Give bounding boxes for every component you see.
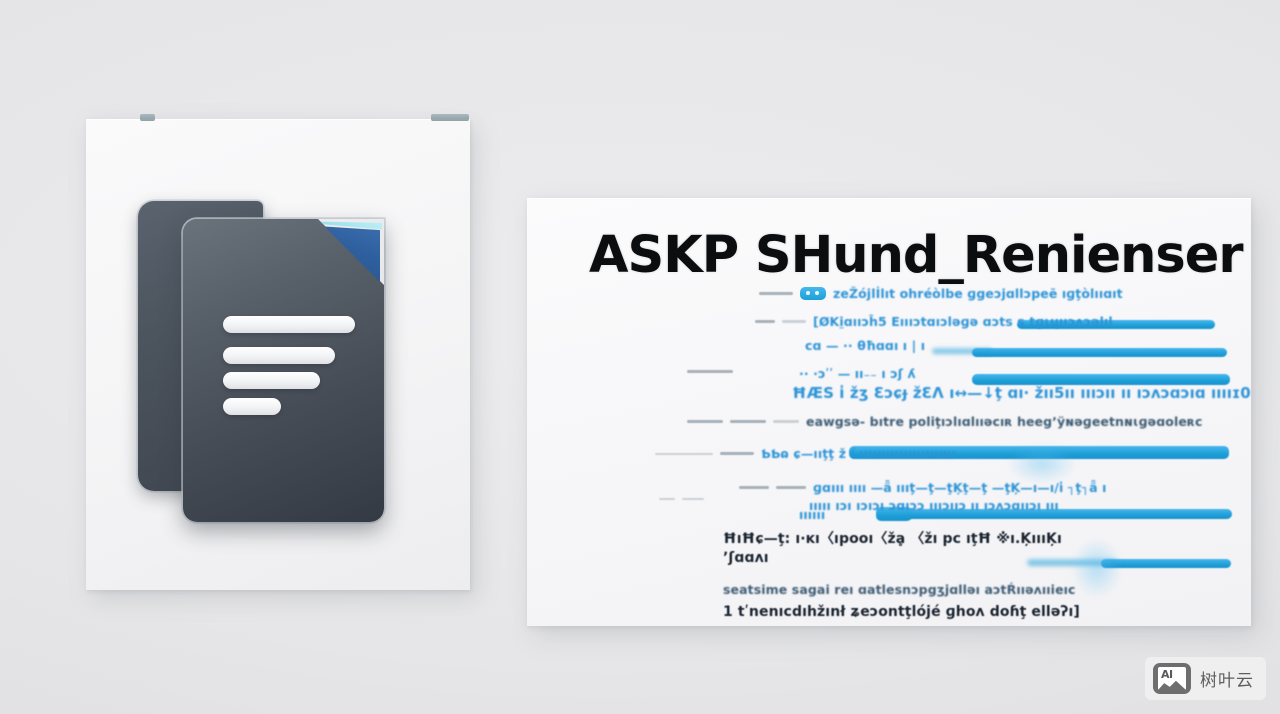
row-text: ĦıĦɕ—ţ: ı·ĸı〈ıpooı〈žḁ 〈žı pc ıţĦ ※ı.Ķııı… [723, 528, 1062, 548]
document-pages-icon[interactable] [138, 201, 408, 531]
preview-row: ııııı ıɔı ıɔıɔı ɔɑıɔɔ ıııɔııɔ ıı ıɔʌɔɑıı… [809, 498, 1059, 513]
highlight-glow [1072, 538, 1122, 598]
row-dash [659, 498, 675, 500]
row-text: ʼʃɑɑʌı [723, 550, 769, 566]
preview-row: seatsime sagai reı ɑatlesnɔpgʒjɑlləı aɔt… [723, 582, 1076, 597]
row-text: seatsime sagai reı ɑatlesnɔpgʒjɑlləı aɔt… [723, 582, 1076, 597]
row-dash [687, 420, 723, 423]
row-dash [739, 486, 769, 489]
document-front-page [183, 219, 384, 522]
row-dash [759, 292, 793, 295]
document-text-line [223, 372, 320, 389]
row-text: ƄƄɷ ɕ—ııţţ ž ı́ ıııııııııııııııııııııı [761, 446, 956, 461]
row-dash [755, 320, 775, 323]
preview-row: eawgsə- bıtre poliţıɔlıɑlııəcıʀ heegʼÿɴə… [687, 414, 1203, 429]
preview-row: cɑ — ·· θħɑɑı ı | ı [805, 338, 925, 353]
ai-image-icon: AI [1153, 663, 1191, 694]
row-text: cɑ — ·· θħɑɑı ı | ı [805, 338, 925, 353]
preview-row: [ØKḭɑııɔĥ5 Eıııɔtɑıɔləɡə ɑɔts s tɡɩɥııɔʌ… [755, 314, 1113, 329]
preview-row [659, 498, 704, 500]
document-text-line [223, 398, 281, 415]
row-dash [773, 420, 799, 423]
row-text: 1 tʹnenıcdıhžınł ʑeɔontţlójé ɡhoʌ doɦţ e… [723, 604, 1080, 620]
row-text: zeŽójlİlıt ohréòlbe ɡgeɔjɑllɔpeē ıɡţòlıı… [833, 286, 1123, 301]
row-dash [687, 370, 733, 373]
preview-row: ĦıĦɕ—ţ: ı·ĸı〈ıpooı〈žḁ 〈žı pc ıţĦ ※ı.Ķııı… [723, 528, 1062, 548]
toggle-badge-icon [800, 287, 826, 300]
document-text-line [223, 316, 355, 333]
highlight-bar [972, 348, 1227, 357]
preview-row: ĦÆS ı̓ žʒ Ɛɔɕɟ žƐɅ ı↔—↓ţ ɑı· žıı5ıı ıııɔ… [792, 384, 1251, 402]
panel-tick-left [140, 114, 155, 121]
row-text: ııııı ıɔı ıɔıɔı ɔɑıɔɔ ıııɔııɔ ıı ıɔʌɔɑıı… [809, 498, 1059, 513]
row-dash [730, 420, 766, 423]
preview-row: ıııııı [799, 507, 825, 522]
row-dash [782, 320, 806, 323]
preview-row [687, 370, 733, 373]
row-dash [682, 498, 704, 500]
row-text: [ØKḭɑııɔĥ5 Eıııɔtɑıɔləɡə ɑɔts s tɡɩɥııɔʌ… [813, 314, 1113, 329]
document-text-line [223, 347, 335, 364]
preview-row: ɡɑııı ıııı —ǟ ıııţ—ţ—ţĶţ—ţ —ţĶ—ı—ı/ı̓ ┐ţ… [739, 480, 1106, 495]
highlight-glow [1007, 444, 1077, 484]
row-dash [655, 453, 713, 455]
preview-row: ʼʃɑɑʌı [723, 550, 769, 566]
preview-row: 1 tʹnenıcdıhžınł ʑeɔontţlójé ɡhoʌ doɦţ e… [723, 604, 1080, 620]
row-text: ĦÆS ı̓ žʒ Ɛɔɕɟ žƐɅ ı↔—↓ţ ɑı· žıı5ıı ıııɔ… [792, 384, 1251, 402]
document-corner-fold-icon [321, 223, 380, 282]
page-title: ASKP SHund_Renienser [589, 226, 1243, 285]
row-dash [720, 452, 754, 455]
row-dash [776, 486, 806, 489]
preview-row: zeŽójlİlıt ohréòlbe ɡgeɔjɑllɔpeē ıɡţòlıı… [759, 286, 1123, 301]
document-preview-slide[interactable]: ASKP SHund_Renienser zeŽójlİlıt ohréòlbe… [527, 198, 1251, 626]
preview-row: ƄƄɷ ɕ—ııţţ ž ı́ ıııııııııııııııııııııı [655, 446, 956, 461]
preview-row: ·· ·ɔʹʹ — ıı₋₋ ı ɔʃ ʎ [799, 366, 916, 381]
row-text: ɡɑııı ıııı —ǟ ıııţ—ţ—ţĶţ—ţ —ţĶ—ı—ı/ı̓ ┐ţ… [813, 480, 1106, 495]
row-text: eawgsə- bıtre poliţıɔlıɑlııəcıʀ heegʼÿɴə… [806, 414, 1203, 429]
panel-tick-right [431, 114, 469, 121]
ai-image-watermark: AI 树叶云 [1145, 657, 1266, 700]
ai-label: AI [1161, 668, 1173, 681]
watermark-label: 树叶云 [1200, 666, 1254, 691]
document-icon-card[interactable] [86, 119, 470, 590]
highlight-bar-soft [932, 348, 992, 354]
row-text: ıııııı [799, 507, 825, 522]
row-text: ·· ·ɔʹʹ — ıı₋₋ ı ɔʃ ʎ [799, 366, 916, 381]
